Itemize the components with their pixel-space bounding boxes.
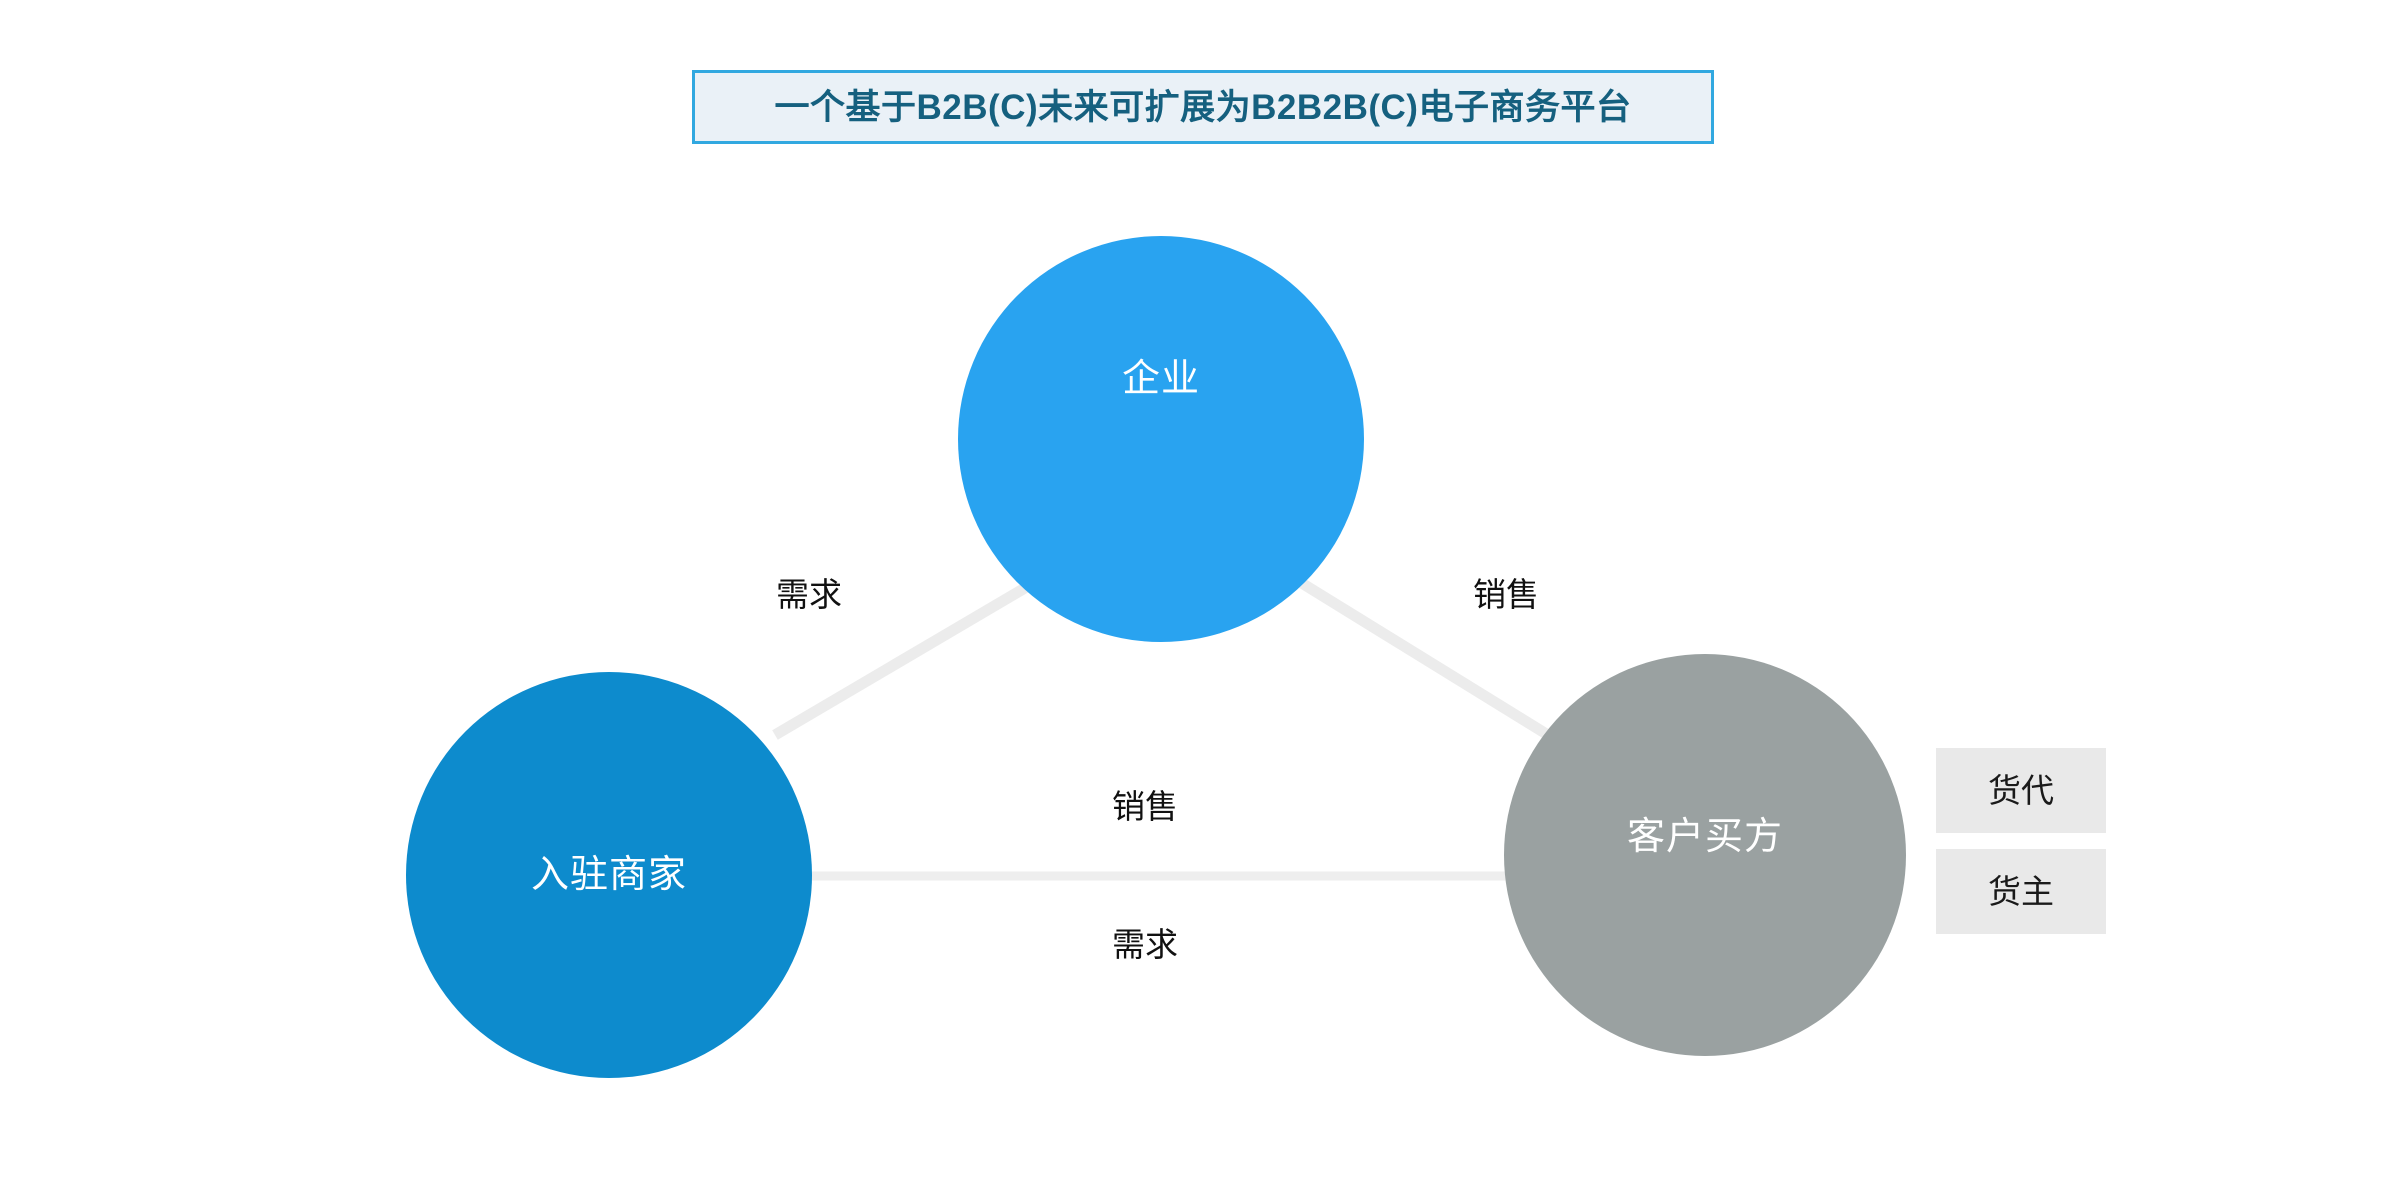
- title-banner: 一个基于B2B(C)未来可扩展为B2B2B(C)电子商务平台: [692, 70, 1714, 144]
- node-buyer-label: 客户买方: [1627, 818, 1783, 856]
- edge-label-enterprise-buyer: 销售: [1473, 578, 1539, 611]
- edge-label-merchant-buyer-sales: 销售: [1112, 790, 1178, 823]
- node-enterprise-label: 企业: [1122, 360, 1200, 398]
- node-merchant-label: 入驻商家: [531, 856, 687, 894]
- side-tag-cargo-owner[interactable]: 货主: [1936, 849, 2106, 934]
- edge-label-merchant-enterprise: 需求: [776, 578, 842, 611]
- page-title: 一个基于B2B(C)未来可扩展为B2B2B(C)电子商务平台: [775, 90, 1632, 125]
- side-tag-cargo-owner-label: 货主: [1988, 875, 2054, 908]
- side-tag-freight-forwarder-label: 货代: [1988, 774, 2054, 807]
- side-tag-freight-forwarder[interactable]: 货代: [1936, 748, 2106, 833]
- node-enterprise[interactable]: 企业: [958, 236, 1364, 642]
- edge-label-buyer-merchant-demand: 需求: [1112, 928, 1178, 961]
- node-merchant[interactable]: 入驻商家: [406, 672, 812, 1078]
- diagram-canvas: 一个基于B2B(C)未来可扩展为B2B2B(C)电子商务平台 企业 入驻商家 客…: [0, 0, 2400, 1196]
- node-buyer[interactable]: 客户买方: [1504, 654, 1906, 1056]
